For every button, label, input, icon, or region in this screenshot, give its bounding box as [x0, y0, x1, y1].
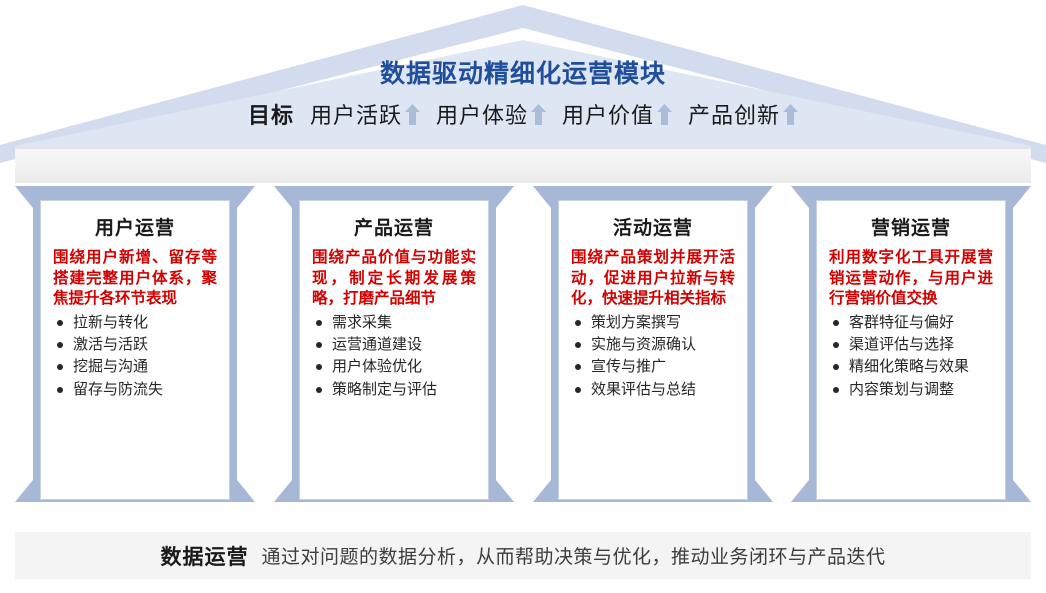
list-item: 运营通道建设 — [312, 334, 476, 355]
goal-item-1: 用户体验 — [436, 98, 546, 130]
list-item: 渠道评估与选择 — [829, 334, 993, 355]
pillar-product-operations[interactable]: 产品运营 围绕产品价值与功能实现，制定长期发展策略，打磨产品细节 需求采集 运营… — [274, 186, 514, 524]
pillar-description: 围绕产品价值与功能实现，制定长期发展策略，打磨产品细节 — [312, 248, 476, 310]
foundation-text: 通过对问题的数据分析，从而帮助决策与优化，推动业务闭环与产品迭代 — [261, 542, 885, 569]
pillar-item-list: 策划方案撰写 实施与资源确认 宣传与推广 效果评估与总结 — [571, 312, 735, 400]
pillar-title: 用户运营 — [53, 213, 217, 240]
pillar-title: 产品运营 — [312, 213, 476, 240]
pillar-card: 活动运营 围绕产品策划并展开活动，促进用户拉新与转化，快速提升相关指标 策划方案… — [558, 200, 748, 500]
goal-item-2-label: 用户价值 — [562, 98, 654, 130]
pillar-description: 利用数字化工具开展营销运营动作，与用户进行营销价值交换 — [829, 248, 993, 310]
list-item: 精细化策略与效果 — [829, 356, 993, 377]
pillar-card: 产品运营 围绕产品价值与功能实现，制定长期发展策略，打磨产品细节 需求采集 运营… — [299, 200, 489, 500]
foundation-bar: 数据运营 通过对问题的数据分析，从而帮助决策与优化，推动业务闭环与产品迭代 — [15, 532, 1031, 579]
temple-diagram: 数据驱动精细化运营模块 目标 用户活跃 用户体验 用户价值 产品创新 — [0, 0, 1046, 593]
pillar-activity-operations[interactable]: 活动运营 围绕产品策划并展开活动，促进用户拉新与转化，快速提升相关指标 策划方案… — [533, 186, 773, 524]
pillar-description: 围绕产品策划并展开活动，促进用户拉新与转化，快速提升相关指标 — [571, 248, 735, 310]
foundation-label: 数据运营 — [160, 541, 248, 571]
pillar-title: 营销运营 — [829, 213, 993, 240]
list-item: 策划方案撰写 — [571, 312, 735, 333]
pillar-item-list: 需求采集 运营通道建设 用户体验优化 策略制定与评估 — [312, 312, 476, 400]
up-arrow-icon — [531, 104, 546, 125]
list-item: 客群特征与偏好 — [829, 312, 993, 333]
list-item: 效果评估与总结 — [571, 379, 735, 400]
up-arrow-icon — [657, 104, 672, 125]
goal-item-3-label: 产品创新 — [688, 98, 780, 130]
pillar-item-list: 客群特征与偏好 渠道评估与选择 精细化策略与效果 内容策划与调整 — [829, 312, 993, 400]
list-item: 拉新与转化 — [53, 312, 217, 333]
goal-row: 目标 用户活跃 用户体验 用户价值 产品创新 — [0, 98, 1046, 130]
list-item: 留存与防流失 — [53, 379, 217, 400]
pillar-row: 用户运营 围绕用户新增、留存等搭建完整用户体系，聚焦提升各环节表现 拉新与转化 … — [0, 186, 1046, 524]
pillar-description: 围绕用户新增、留存等搭建完整用户体系，聚焦提升各环节表现 — [53, 248, 217, 310]
list-item: 激活与活跃 — [53, 334, 217, 355]
pillar-card: 用户运营 围绕用户新增、留存等搭建完整用户体系，聚焦提升各环节表现 拉新与转化 … — [40, 200, 230, 500]
up-arrow-icon — [405, 104, 420, 125]
list-item: 宣传与推广 — [571, 356, 735, 377]
goal-item-1-label: 用户体验 — [436, 98, 528, 130]
list-item: 需求采集 — [312, 312, 476, 333]
diagram-title: 数据驱动精细化运营模块 — [0, 54, 1046, 90]
pillar-user-operations[interactable]: 用户运营 围绕用户新增、留存等搭建完整用户体系，聚焦提升各环节表现 拉新与转化 … — [15, 186, 255, 524]
pillar-item-list: 拉新与转化 激活与活跃 挖掘与沟通 留存与防流失 — [53, 312, 217, 400]
goal-label: 目标 — [248, 98, 294, 130]
goal-item-2: 用户价值 — [562, 98, 672, 130]
pillar-marketing-operations[interactable]: 营销运营 利用数字化工具开展营销运营动作，与用户进行营销价值交换 客群特征与偏好… — [791, 186, 1031, 524]
list-item: 策略制定与评估 — [312, 379, 476, 400]
list-item: 内容策划与调整 — [829, 379, 993, 400]
goal-item-0: 用户活跃 — [310, 98, 420, 130]
roof-lintel-bar — [15, 148, 1031, 183]
pillar-title: 活动运营 — [571, 213, 735, 240]
goal-item-0-label: 用户活跃 — [310, 98, 402, 130]
pillar-card: 营销运营 利用数字化工具开展营销运营动作，与用户进行营销价值交换 客群特征与偏好… — [816, 200, 1006, 500]
list-item: 用户体验优化 — [312, 356, 476, 377]
list-item: 挖掘与沟通 — [53, 356, 217, 377]
list-item: 实施与资源确认 — [571, 334, 735, 355]
goal-item-3: 产品创新 — [688, 98, 798, 130]
up-arrow-icon — [783, 104, 798, 125]
